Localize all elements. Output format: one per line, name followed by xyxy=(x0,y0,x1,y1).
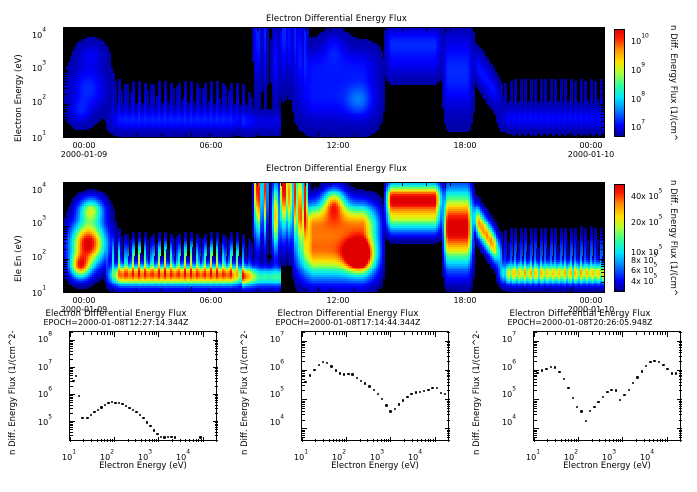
axis-tick xyxy=(601,210,604,211)
axis-tick xyxy=(402,289,403,292)
axis-tick xyxy=(135,332,136,335)
panel-1-xtick-0: 00:00 xyxy=(59,141,109,150)
data-point xyxy=(440,392,442,394)
axis-tick xyxy=(445,28,446,33)
axis-tick xyxy=(660,332,661,335)
axis-tick xyxy=(302,361,305,362)
data-point xyxy=(167,436,169,438)
axis-tick xyxy=(450,289,451,292)
panel-2-cbar-tick-20: 20x 105 xyxy=(631,210,662,229)
axis-tick xyxy=(136,289,137,292)
axis-tick xyxy=(622,437,623,442)
axis-tick xyxy=(70,440,73,441)
spectrum-3-ytick-7: 107 xyxy=(502,327,516,346)
data-point xyxy=(128,407,130,409)
axis-tick xyxy=(156,332,157,335)
axis-tick xyxy=(425,439,426,442)
axis-tick xyxy=(447,382,450,383)
axis-tick xyxy=(599,137,604,138)
axis-tick xyxy=(70,402,73,403)
axis-tick xyxy=(665,332,666,335)
axis-tick xyxy=(215,386,218,387)
axis-tick xyxy=(426,134,427,137)
data-point xyxy=(160,436,162,438)
axis-tick xyxy=(83,332,84,335)
axis-tick xyxy=(679,382,682,383)
spectrum-1-plot-area[interactable] xyxy=(69,331,217,441)
data-point xyxy=(419,391,421,393)
axis-tick xyxy=(534,379,537,380)
data-point xyxy=(93,411,95,413)
axis-tick xyxy=(215,422,218,423)
axis-tick xyxy=(209,134,210,137)
data-point xyxy=(580,410,582,412)
axis-tick xyxy=(571,28,572,33)
axis-tick xyxy=(336,439,337,442)
axis-tick xyxy=(426,289,427,292)
panel-2-colorbar[interactable] xyxy=(614,184,625,292)
axis-tick xyxy=(601,269,604,270)
axis-tick xyxy=(534,430,537,431)
axis-tick xyxy=(679,431,682,432)
axis-tick xyxy=(302,411,305,412)
axis-tick xyxy=(534,376,537,377)
axis-tick xyxy=(601,76,604,77)
axis-tick xyxy=(257,28,258,31)
axis-tick xyxy=(360,439,361,442)
axis-tick xyxy=(601,276,604,277)
axis-tick xyxy=(64,276,67,277)
data-point xyxy=(368,385,370,387)
axis-tick xyxy=(616,332,617,335)
data-point xyxy=(662,364,664,366)
axis-tick xyxy=(180,439,181,442)
axis-tick xyxy=(649,332,650,335)
axis-tick xyxy=(215,344,218,345)
axis-tick xyxy=(342,332,343,335)
axis-tick xyxy=(329,332,330,335)
data-point xyxy=(572,397,574,399)
data-point xyxy=(377,393,379,395)
axis-tick xyxy=(193,332,194,335)
axis-tick xyxy=(578,437,579,442)
axis-tick xyxy=(609,439,610,442)
axis-tick xyxy=(679,404,682,405)
axis-tick xyxy=(302,352,305,353)
axis-tick xyxy=(198,332,199,335)
axis-tick xyxy=(534,390,537,391)
data-point xyxy=(550,366,552,368)
axis-tick xyxy=(196,439,197,442)
axis-tick xyxy=(215,400,218,401)
axis-tick xyxy=(215,424,218,425)
axis-tick xyxy=(70,425,73,426)
axis-tick xyxy=(601,236,604,237)
axis-tick xyxy=(70,386,73,387)
axis-tick xyxy=(601,127,604,128)
data-point xyxy=(671,372,673,374)
axis-tick xyxy=(571,183,572,188)
axis-tick xyxy=(445,287,446,292)
data-point xyxy=(653,360,655,362)
axis-tick xyxy=(679,402,682,403)
axis-tick xyxy=(64,210,67,211)
axis-tick xyxy=(601,249,604,250)
axis-tick xyxy=(104,332,105,335)
axis-tick xyxy=(70,398,73,399)
axis-tick xyxy=(386,439,387,442)
axis-tick xyxy=(601,41,604,42)
spectrum-1-subtitle: EPOCH=2000-01-08T12:27:14.344Z xyxy=(0,318,237,327)
axis-tick xyxy=(601,61,604,62)
axis-tick xyxy=(592,332,593,335)
axis-tick xyxy=(104,439,105,442)
panel-1-ytick-4: 104 xyxy=(32,23,46,42)
axis-tick xyxy=(381,439,382,442)
axis-tick xyxy=(64,105,67,106)
spectrogram-image xyxy=(64,183,604,292)
axis-tick xyxy=(390,332,391,337)
axis-tick xyxy=(601,105,604,106)
axis-tick xyxy=(565,332,566,335)
axis-tick xyxy=(281,28,282,31)
axis-tick xyxy=(378,183,379,186)
axis-tick xyxy=(636,439,637,442)
axis-tick xyxy=(576,332,577,335)
axis-tick xyxy=(679,435,682,436)
axis-tick xyxy=(70,373,73,374)
panel-1-colorbar[interactable] xyxy=(614,29,625,137)
axis-tick xyxy=(64,81,67,82)
data-point xyxy=(111,401,113,403)
axis-tick xyxy=(257,289,258,292)
axis-tick xyxy=(302,437,305,438)
axis-tick xyxy=(302,399,307,400)
data-point xyxy=(146,421,148,423)
axis-tick xyxy=(377,439,378,442)
axis-tick xyxy=(339,439,340,442)
axis-tick xyxy=(601,74,604,75)
data-point xyxy=(322,361,324,363)
axis-tick xyxy=(302,390,305,391)
axis-tick xyxy=(447,420,450,421)
axis-tick xyxy=(97,332,98,335)
axis-tick xyxy=(523,134,524,137)
axis-tick xyxy=(377,332,378,335)
axis-tick xyxy=(447,440,450,441)
axis-tick xyxy=(447,404,450,405)
axis-tick xyxy=(333,332,334,335)
axis-tick xyxy=(354,183,355,186)
axis-tick xyxy=(574,439,575,442)
axis-tick xyxy=(378,134,379,137)
axis-tick xyxy=(417,439,418,442)
spectrum-plot-3: Electron Differential Energy Flux EPOCH=… xyxy=(464,305,697,492)
axis-tick xyxy=(70,332,73,333)
panel-1-plot-area[interactable] xyxy=(63,27,605,138)
data-point xyxy=(675,372,677,374)
spectrum-3-subtitle: EPOCH=2000-01-08T20:26:05.948Z xyxy=(459,318,697,327)
data-point xyxy=(636,376,638,378)
panel-1-cbar-tick-9: 109 xyxy=(631,58,645,77)
data-point xyxy=(156,433,158,435)
axis-tick xyxy=(302,375,305,376)
axis-tick xyxy=(128,332,129,335)
axis-tick xyxy=(64,262,67,263)
axis-tick xyxy=(601,264,604,265)
axis-tick xyxy=(145,332,146,335)
axis-tick xyxy=(64,121,67,122)
axis-tick xyxy=(447,373,450,374)
axis-tick xyxy=(302,347,305,348)
axis-tick xyxy=(215,368,218,369)
data-point xyxy=(335,369,337,371)
data-point xyxy=(632,382,634,384)
axis-tick xyxy=(534,411,537,412)
axis-tick xyxy=(64,282,67,283)
panel-2-cbar-tick-4: 4x 105 xyxy=(631,269,657,288)
spectrum-3-plot-area[interactable] xyxy=(533,331,681,441)
axis-tick xyxy=(64,269,67,270)
axis-tick xyxy=(302,431,305,432)
axis-tick xyxy=(161,183,162,186)
axis-tick xyxy=(318,132,319,137)
axis-tick xyxy=(88,289,89,292)
axis-tick xyxy=(412,332,413,335)
axis-tick xyxy=(64,117,67,118)
axis-tick xyxy=(474,28,475,31)
axis-tick xyxy=(534,375,537,376)
axis-tick xyxy=(601,266,604,267)
axis-tick xyxy=(70,348,73,349)
data-point xyxy=(97,409,99,411)
axis-tick xyxy=(257,183,258,186)
data-point xyxy=(326,362,328,364)
data-point xyxy=(330,365,332,367)
axis-tick xyxy=(64,61,67,62)
axis-tick xyxy=(447,408,450,409)
axis-tick xyxy=(88,183,89,186)
axis-tick xyxy=(215,354,218,355)
axis-tick xyxy=(679,342,682,343)
axis-tick xyxy=(185,439,186,442)
axis-tick xyxy=(601,107,604,108)
axis-tick xyxy=(64,114,67,115)
axis-tick xyxy=(430,332,431,335)
axis-tick xyxy=(601,194,604,195)
data-point xyxy=(121,403,123,405)
axis-tick xyxy=(601,227,604,228)
axis-tick xyxy=(64,51,67,52)
data-point xyxy=(339,372,341,374)
axis-tick xyxy=(601,260,604,261)
axis-tick xyxy=(281,134,282,137)
axis-tick xyxy=(412,439,413,442)
axis-tick xyxy=(679,414,682,415)
axis-tick xyxy=(64,76,67,77)
data-point xyxy=(623,394,625,396)
panel-1-title: Electron Differential Energy Flux xyxy=(60,14,613,24)
axis-tick xyxy=(302,332,305,333)
axis-tick xyxy=(662,439,663,442)
axis-tick xyxy=(447,435,450,436)
axis-tick xyxy=(191,183,192,188)
axis-tick xyxy=(107,332,108,335)
axis-tick xyxy=(402,183,403,186)
axis-tick xyxy=(215,351,218,352)
axis-tick xyxy=(547,332,548,335)
axis-tick xyxy=(523,183,524,186)
axis-tick xyxy=(101,439,102,442)
panel-2-xtick-1: 06:00 xyxy=(186,296,236,305)
panel-2-plot-area[interactable] xyxy=(63,182,605,293)
axis-tick xyxy=(555,332,556,335)
axis-tick xyxy=(679,385,682,386)
axis-tick xyxy=(433,439,434,442)
axis-tick xyxy=(679,376,682,377)
axis-tick xyxy=(302,406,305,407)
axis-tick xyxy=(329,439,330,442)
axis-tick xyxy=(70,381,73,382)
axis-tick xyxy=(677,428,682,429)
axis-tick xyxy=(112,28,113,31)
axis-tick xyxy=(644,332,645,335)
axis-tick xyxy=(64,200,67,201)
spectrum-3-ytick-4: 104 xyxy=(502,410,516,429)
axis-tick xyxy=(70,346,73,347)
axis-tick xyxy=(568,439,569,442)
axis-tick xyxy=(450,183,451,186)
axis-tick xyxy=(64,74,67,75)
axis-tick xyxy=(421,439,422,442)
axis-tick xyxy=(64,137,69,138)
axis-tick xyxy=(534,440,537,441)
panel-1-ytick-3: 103 xyxy=(32,56,46,75)
axis-tick xyxy=(191,28,192,33)
axis-tick xyxy=(601,45,604,46)
axis-tick xyxy=(161,134,162,137)
axis-tick xyxy=(330,183,331,186)
axis-tick xyxy=(447,371,450,372)
axis-tick xyxy=(601,81,604,82)
axis-tick xyxy=(215,332,218,333)
data-point xyxy=(125,405,127,407)
data-point xyxy=(170,436,172,438)
axis-tick xyxy=(158,332,159,337)
axis-tick xyxy=(64,243,67,244)
axis-tick xyxy=(447,356,450,357)
axis-tick xyxy=(445,132,446,137)
spectrum-3-ytick-6: 106 xyxy=(502,355,516,374)
data-point xyxy=(593,406,595,408)
panel-2-xtick-4: 00:00 xyxy=(566,296,616,305)
axis-tick xyxy=(189,439,190,442)
axis-tick xyxy=(64,196,67,197)
axis-tick xyxy=(70,368,73,369)
axis-tick xyxy=(70,422,73,423)
axis-tick xyxy=(534,382,537,383)
axis-tick xyxy=(191,132,192,137)
axis-tick xyxy=(110,332,111,335)
axis-tick xyxy=(534,371,537,372)
axis-tick xyxy=(662,332,663,335)
axis-tick xyxy=(499,289,500,292)
axis-tick xyxy=(354,28,355,31)
axis-tick xyxy=(601,55,604,56)
data-point xyxy=(309,374,311,376)
data-point xyxy=(427,389,429,391)
axis-tick xyxy=(534,414,537,415)
data-point xyxy=(589,410,591,412)
axis-tick xyxy=(215,427,218,428)
axis-tick xyxy=(323,439,324,442)
panel-2-spectrogram: Electron Differential Energy Flux Ele En… xyxy=(0,155,697,310)
spectrum-2-plot-area[interactable] xyxy=(301,331,449,441)
axis-tick xyxy=(305,28,306,31)
axis-tick xyxy=(70,400,73,401)
axis-tick xyxy=(644,439,645,442)
axis-tick xyxy=(64,233,67,234)
axis-tick xyxy=(534,350,537,351)
axis-tick xyxy=(568,332,569,335)
axis-tick xyxy=(601,231,604,232)
axis-tick xyxy=(384,332,385,335)
data-point xyxy=(576,406,578,408)
axis-tick xyxy=(447,414,450,415)
axis-tick xyxy=(601,262,604,263)
axis-tick xyxy=(302,435,305,436)
axis-tick xyxy=(620,332,621,335)
axis-tick xyxy=(450,134,451,137)
axis-tick xyxy=(336,332,337,335)
axis-tick xyxy=(679,411,682,412)
axis-tick xyxy=(447,347,450,348)
axis-tick xyxy=(618,439,619,442)
axis-tick xyxy=(679,373,682,374)
axis-tick xyxy=(64,229,67,230)
axis-tick xyxy=(679,361,682,362)
axis-tick xyxy=(302,408,305,409)
axis-tick xyxy=(185,134,186,137)
panel-2-xtick-0: 00:00 xyxy=(59,296,109,305)
axis-tick xyxy=(571,439,572,442)
axis-tick xyxy=(315,332,316,335)
axis-tick xyxy=(215,395,218,396)
axis-tick xyxy=(70,354,73,355)
axis-tick xyxy=(342,439,343,442)
data-point xyxy=(423,390,425,392)
axis-tick xyxy=(601,111,604,112)
data-point xyxy=(104,404,106,406)
data-point xyxy=(658,361,660,363)
panel-2-ytick-1: 101 xyxy=(32,281,46,300)
data-point xyxy=(558,371,560,373)
axis-tick xyxy=(592,439,593,442)
axis-tick xyxy=(302,420,305,421)
axis-tick xyxy=(447,376,450,377)
axis-tick xyxy=(64,45,67,46)
axis-tick xyxy=(667,437,668,442)
axis-tick xyxy=(447,385,450,386)
axis-tick xyxy=(653,332,654,335)
data-point xyxy=(610,389,612,391)
axis-tick xyxy=(107,439,108,442)
axis-tick xyxy=(64,272,67,273)
axis-tick xyxy=(330,134,331,137)
axis-tick xyxy=(302,385,305,386)
axis-tick xyxy=(679,347,682,348)
axis-tick xyxy=(141,439,142,442)
